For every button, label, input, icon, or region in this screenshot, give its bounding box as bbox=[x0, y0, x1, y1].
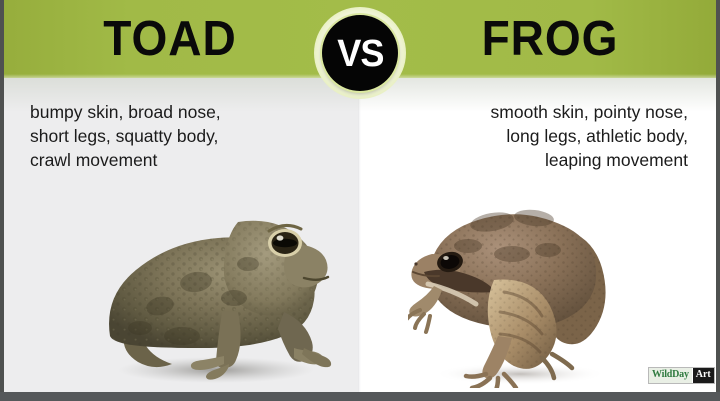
frog-description: smooth skin, pointy nose, long legs, ath… bbox=[478, 100, 688, 172]
toad-title: TOAD bbox=[10, 13, 330, 65]
versus-label: VS bbox=[337, 35, 383, 73]
watermark-secondary-text: Art bbox=[692, 368, 714, 383]
frame-left-edge bbox=[0, 0, 4, 401]
frog-photo bbox=[408, 188, 623, 388]
frame-right-edge bbox=[716, 0, 720, 401]
toad-description: bumpy skin, broad nose, short legs, squa… bbox=[30, 100, 240, 172]
watermark-primary-text: WildDay bbox=[649, 368, 692, 383]
infographic-canvas: TOAD FROG VS bumpy skin, broad nose, sho… bbox=[0, 0, 720, 401]
panel-divider bbox=[358, 78, 361, 393]
watermark: WildDay Art bbox=[648, 367, 715, 384]
versus-circle: VS bbox=[322, 15, 398, 91]
toad-photo bbox=[88, 186, 338, 386]
frame-bottom-edge bbox=[0, 392, 720, 401]
frog-title: FROG bbox=[390, 13, 710, 65]
versus-badge: VS bbox=[314, 7, 406, 99]
